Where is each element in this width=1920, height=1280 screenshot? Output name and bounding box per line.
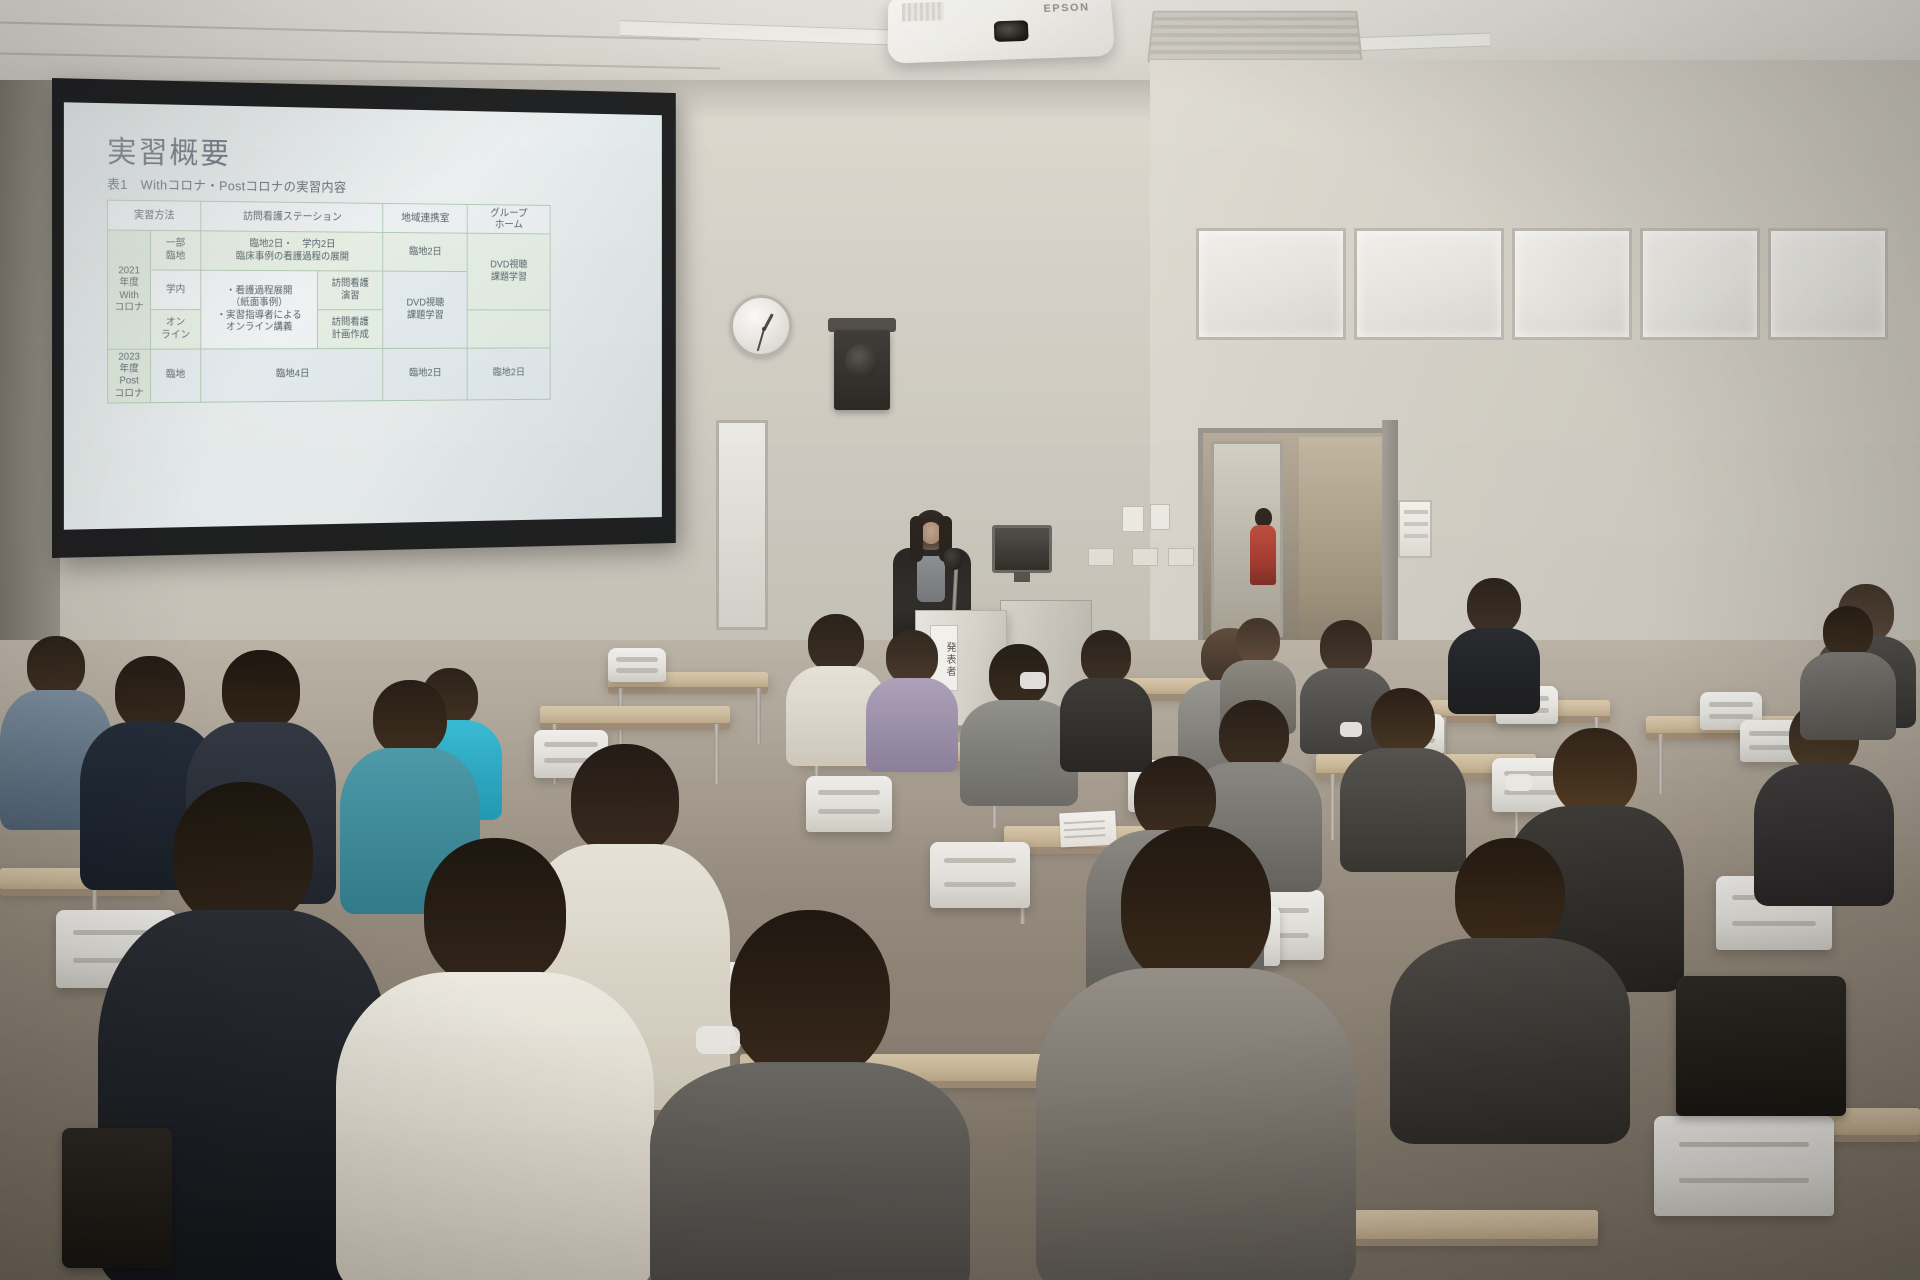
table-row: オン ライン 訪問看護 計画作成 <box>108 310 550 350</box>
person-in-doorway <box>1250 525 1276 585</box>
person-body <box>866 678 958 772</box>
person-head <box>1823 606 1873 658</box>
microphone <box>944 548 962 570</box>
station-left-line3: ・実習指導者による <box>217 310 302 321</box>
table-row: 2023 年度 Post コロナ 臨地 臨地4日 臨地2日 臨地2日 <box>108 348 550 403</box>
face-mask <box>1506 774 1532 791</box>
station-line1: 臨地2日・ 学内2日 <box>250 239 336 250</box>
year2-line4: コロナ <box>114 388 143 399</box>
window-pane <box>1354 228 1504 340</box>
person-body <box>1754 764 1894 906</box>
header-cell-method: 実習方法 <box>108 200 201 231</box>
wall-clock <box>730 295 792 357</box>
person-head <box>730 910 890 1080</box>
cell-liaison-partial: 臨地2日 <box>383 233 467 272</box>
audience-person <box>650 910 970 1280</box>
person-head <box>1236 618 1280 664</box>
liaison-line1: DVD視聴 <box>406 298 444 309</box>
method-online-line2: ライン <box>161 329 190 340</box>
chair <box>1654 1116 1834 1216</box>
desk-leg <box>756 688 761 744</box>
audience-person <box>1390 838 1630 1138</box>
slide-content: 実習概要 表1 Withコロナ・Postコロナの実習内容 実習方法 訪問看護ステ… <box>107 137 648 503</box>
projection-screen-surface: 実習概要 表1 Withコロナ・Postコロナの実習内容 実習方法 訪問看護ステ… <box>64 102 662 529</box>
slide-table: 実習方法 訪問看護ステーション 地域連携室 グループ ホーム 2021 年度 <box>107 199 550 403</box>
station-line2: 臨床事例の看護過程の展開 <box>236 251 349 262</box>
station-left-line4: オンライン講義 <box>226 322 292 333</box>
audience-person <box>1060 630 1152 770</box>
slide-subtitle: 表1 Withコロナ・Postコロナの実習内容 <box>107 173 648 199</box>
wall-notice <box>1088 548 1114 566</box>
presenter-shirt <box>917 556 945 602</box>
cell-grouphome-2023: 臨地2日 <box>467 348 550 400</box>
wall-notice <box>1168 548 1194 566</box>
cell-method-online: オン ライン <box>150 310 200 350</box>
face-mask <box>1340 722 1362 737</box>
year2-line1: 2023 <box>118 352 140 363</box>
open-door-gap <box>1299 437 1395 643</box>
station-online-line1: 訪問看護 <box>332 317 369 328</box>
person-head <box>1467 578 1521 634</box>
person-body <box>650 1062 970 1280</box>
person-head <box>1121 826 1271 986</box>
cell-grouphome-online <box>467 310 550 348</box>
header-cell-liaison: 地域連携室 <box>383 203 467 233</box>
cell-method-2023: 臨地 <box>150 349 200 402</box>
cell-method-campus: 学内 <box>150 270 200 310</box>
face-mask <box>1020 672 1046 689</box>
cell-liaison-dvd: DVD視聴 課題学習 <box>383 271 467 348</box>
table-header-row: 実習方法 訪問看護ステーション 地域連携室 グループ ホーム <box>108 200 550 234</box>
presenter-head <box>914 510 948 550</box>
speaker-cone-icon <box>845 344 879 378</box>
wall-notice <box>1132 548 1158 566</box>
header-cell-grouphome: グループ ホーム <box>467 204 550 234</box>
projector-brand-label: EPSON <box>1043 2 1090 15</box>
year-line2: 年度 <box>119 278 138 289</box>
header-grouphome-line1: グループ <box>490 207 527 219</box>
grouphome-line2: 課題学習 <box>491 272 527 283</box>
slide-title: 実習概要 <box>107 137 648 176</box>
header-grouphome-line2: ホーム <box>495 219 523 231</box>
chair <box>608 648 666 682</box>
station-left-line2: （紙面事例） <box>231 298 288 309</box>
person-head <box>1081 630 1131 684</box>
person-head <box>115 656 185 730</box>
method-line2: 臨地 <box>166 250 185 261</box>
cell-method-partial: 一部 臨地 <box>150 230 200 270</box>
projector-lens-icon <box>994 20 1029 42</box>
person-head <box>222 650 300 730</box>
grouphome-line1: DVD視聴 <box>490 260 527 271</box>
presenter-face <box>921 522 941 544</box>
person-head <box>1455 838 1565 950</box>
year-line3: With <box>119 290 138 301</box>
person-body <box>1036 968 1356 1280</box>
method-online-line1: オン <box>166 317 185 328</box>
method-line1: 一部 <box>166 238 185 249</box>
wall-notice <box>1122 506 1144 532</box>
liaison-line2: 課題学習 <box>407 310 444 321</box>
presenter-hair <box>910 516 923 562</box>
monitor <box>992 525 1052 573</box>
person-head <box>1320 620 1372 674</box>
projector-vent <box>902 2 944 22</box>
cell-year-2023: 2023 年度 Post コロナ <box>108 349 151 403</box>
audience-person <box>866 630 958 770</box>
backpack <box>1676 976 1846 1116</box>
year2-line2: 年度 <box>119 364 138 375</box>
lecture-room-photo: EPSON 実 <box>0 0 1920 1280</box>
whiteboard <box>716 420 768 630</box>
year2-line3: Post <box>119 376 139 387</box>
face-mask <box>696 1026 740 1054</box>
year-line4: コロナ <box>114 302 143 313</box>
clock-center-pin <box>762 327 766 331</box>
person-head <box>1553 728 1637 816</box>
handbag <box>62 1128 172 1268</box>
desk <box>540 706 730 724</box>
station-online-line2: 計画作成 <box>332 329 369 340</box>
header-cell-station: 訪問看護ステーション <box>201 201 384 233</box>
station-left-line1: ・看護過程展開 <box>226 286 292 297</box>
monitor-stand <box>1014 572 1030 582</box>
clock-minute-hand <box>757 329 765 352</box>
person-head <box>373 680 447 756</box>
cell-grouphome-dvd: DVD視聴 課題学習 <box>467 233 550 310</box>
year-line1: 2021 <box>118 266 140 277</box>
person-head <box>27 636 85 696</box>
person-head <box>808 614 864 672</box>
person-head <box>424 838 566 988</box>
person-head <box>886 630 938 684</box>
window-pane <box>1768 228 1888 340</box>
station-right-line1: 訪問看護 <box>332 279 369 290</box>
cell-station-campus-right: 訪問看護 演習 <box>317 271 383 310</box>
station-right-line2: 演習 <box>341 290 360 301</box>
window-pane <box>1512 228 1632 340</box>
cell-liaison-2023: 臨地2日 <box>383 348 467 400</box>
ceiling-air-vent <box>1147 11 1363 63</box>
person-head <box>173 782 313 928</box>
projector: EPSON <box>887 0 1115 64</box>
audience-person <box>1800 606 1896 736</box>
cell-station-online-right: 訪問看護 計画作成 <box>317 310 383 349</box>
cell-year-2021: 2021 年度 With コロナ <box>108 230 151 349</box>
cell-station-campus-left: ・看護過程展開 （紙面事例） ・実習指導者による オンライン講義 <box>201 270 318 349</box>
chair <box>806 776 892 832</box>
person-head <box>1371 688 1435 754</box>
person-body <box>1800 652 1896 740</box>
wall-notice <box>1150 504 1170 530</box>
window-pane <box>1196 228 1346 340</box>
person-body <box>336 972 654 1280</box>
chair <box>930 842 1030 908</box>
projection-screen: 実習概要 表1 Withコロナ・Postコロナの実習内容 実習方法 訪問看護ステ… <box>52 78 676 558</box>
window-strip <box>1196 228 1888 340</box>
audience-person <box>336 838 654 1280</box>
cell-station-partial: 臨地2日・ 学内2日 臨床事例の看護過程の展開 <box>201 231 384 271</box>
table-row: 2021 年度 With コロナ 一部 臨地 臨地2日・ 学内2日 臨床事例の看… <box>108 230 550 272</box>
wall-sign <box>1398 500 1432 558</box>
person-body <box>1390 938 1630 1144</box>
cell-station-2023: 臨地4日 <box>201 349 384 403</box>
doorway[interactable] <box>1198 428 1398 650</box>
window-pane <box>1640 228 1760 340</box>
wall-speaker <box>834 330 890 410</box>
audience-person <box>1036 826 1356 1280</box>
